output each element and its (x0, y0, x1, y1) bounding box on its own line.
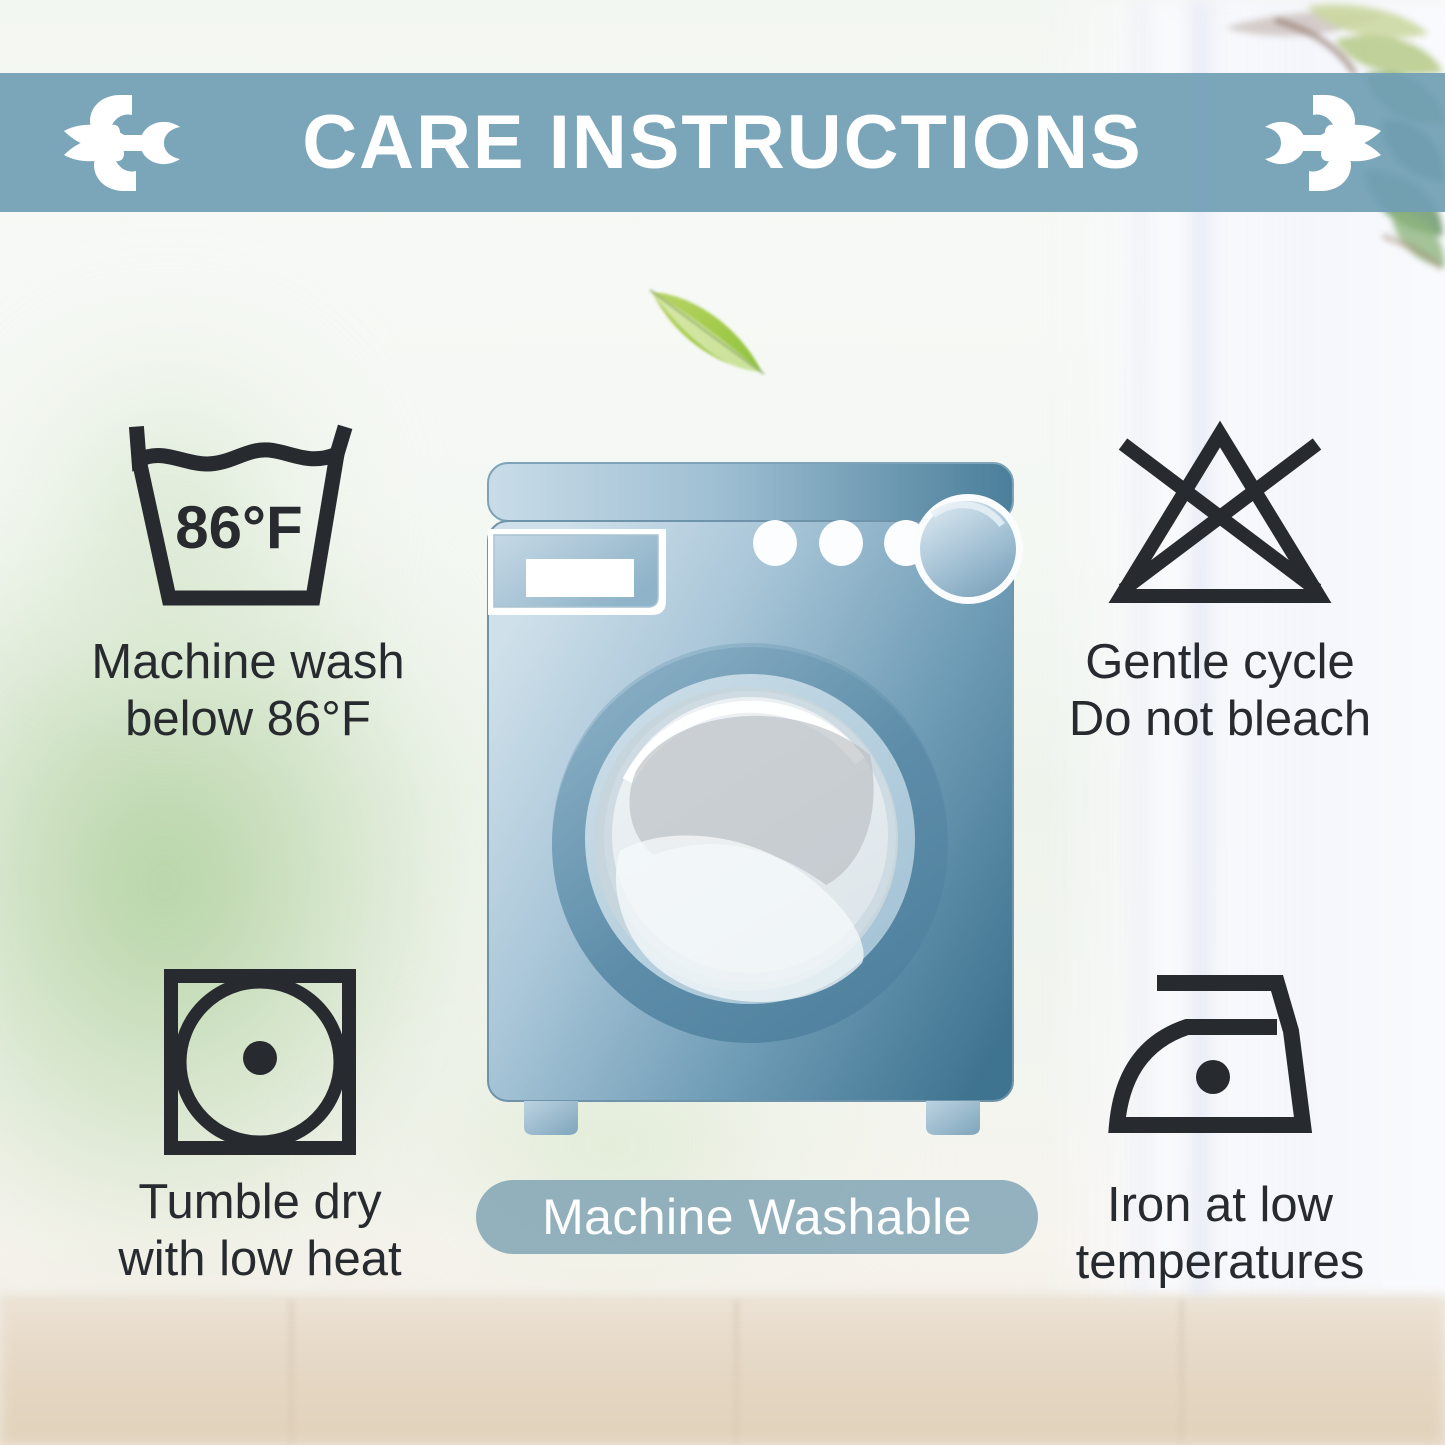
care-item-do-not-bleach: Gentle cycle Do not bleach (1010, 420, 1430, 749)
wood-surface (0, 1300, 1445, 1445)
status-badge: Machine Washable (476, 1180, 1038, 1254)
care-label-line1: Machine wash (91, 635, 404, 689)
status-badge-label: Machine Washable (542, 1188, 972, 1246)
care-label-line1: Tumble dry (138, 1175, 381, 1229)
care-item-label: Gentle cycle Do not bleach (1069, 634, 1371, 749)
tumble-dry-low-icon (155, 960, 365, 1160)
header-banner: CARE INSTRUCTIONS (0, 73, 1445, 212)
iron-low-temp-icon (1095, 965, 1345, 1155)
fleur-de-lis-icon (62, 91, 182, 195)
bleach-triangle-crossed-icon (1095, 420, 1345, 610)
care-label-line2: Do not bleach (1069, 691, 1371, 748)
care-item-tumble-dry: Tumble dry with low heat (40, 960, 480, 1289)
wash-temperature-value: 86°F (175, 494, 302, 561)
wood-plank-seam (1180, 1300, 1183, 1445)
care-label-line1: Iron at low (1107, 1178, 1333, 1232)
wood-plank-seam (290, 1300, 293, 1445)
care-item-label: Iron at low temperatures (1076, 1177, 1365, 1292)
care-label-line2: below 86°F (91, 691, 404, 748)
indicator-dot (819, 520, 863, 566)
front-load-washing-machine-illustration (478, 455, 1023, 1135)
care-item-label: Machine wash below 86°F (91, 634, 404, 749)
fleur-de-lis-icon (1263, 91, 1383, 195)
wood-plank-seam (735, 1300, 738, 1445)
care-label-line1: Gentle cycle (1085, 635, 1355, 689)
indicator-dot (753, 520, 797, 566)
care-instructions-infographic: CARE INSTRUCTIONS (0, 0, 1445, 1445)
wash-tub-icon: 86°F (123, 420, 373, 620)
care-item-label: Tumble dry with low heat (118, 1174, 401, 1289)
care-label-line2: with low heat (118, 1231, 401, 1288)
care-label-line2: temperatures (1076, 1234, 1365, 1291)
green-leaf-icon (638, 276, 778, 386)
page-title: CARE INSTRUCTIONS (302, 105, 1142, 181)
care-item-machine-wash: 86°F Machine wash below 86°F (28, 420, 468, 749)
care-item-iron-low: Iron at low temperatures (1010, 965, 1430, 1292)
